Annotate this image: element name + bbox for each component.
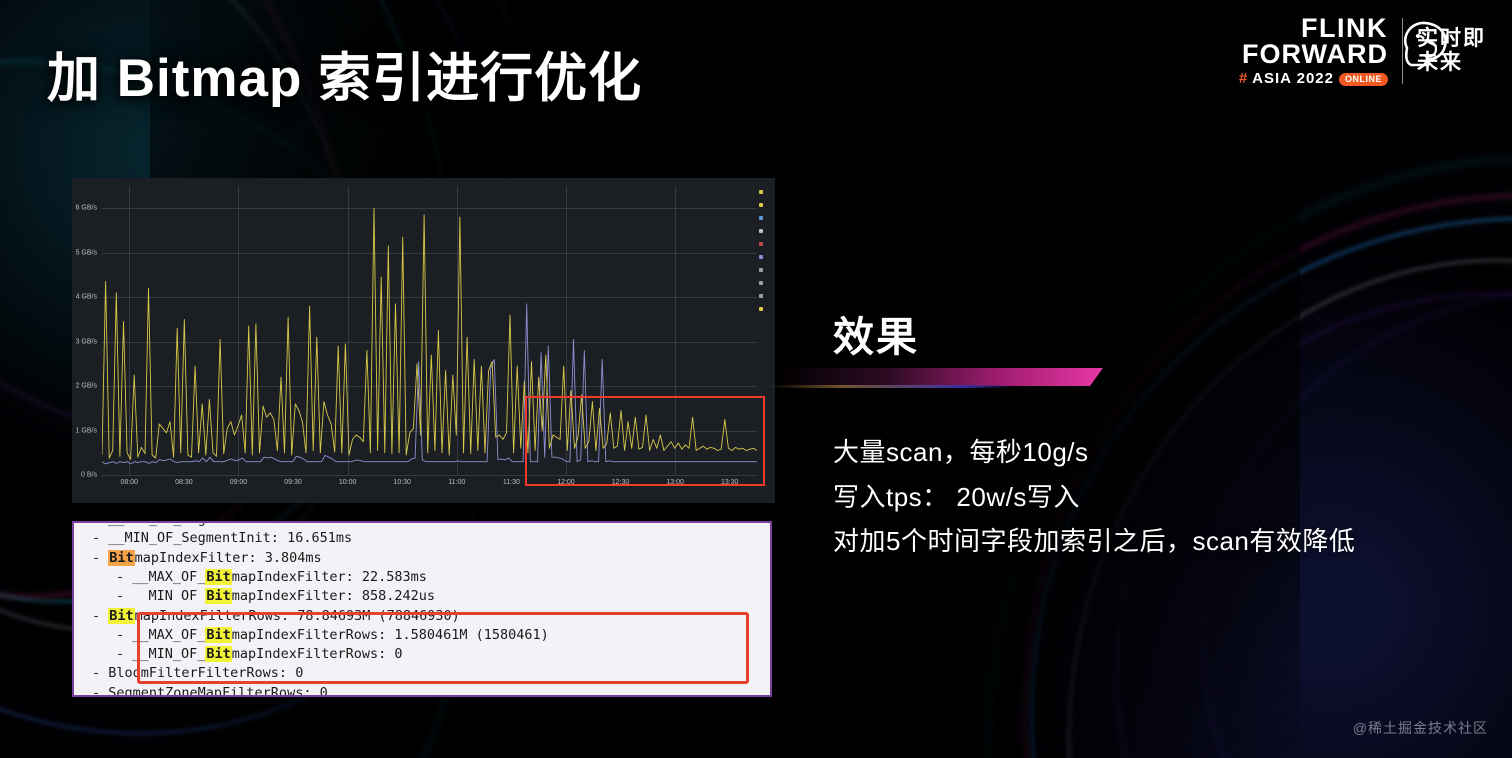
squirrel-icon bbox=[1391, 18, 1453, 73]
chart-x-tick-label: 13:00 bbox=[666, 479, 684, 486]
logo-event-text: ASIA 2022 bbox=[1252, 72, 1334, 86]
chart-gridline-h bbox=[102, 208, 757, 209]
log-line-suffix: mapIndexFilter: 858.242us bbox=[232, 588, 435, 604]
chart-y-tick-label: 3 GB/s bbox=[76, 338, 97, 345]
chart-gridline-h bbox=[102, 475, 757, 476]
log-line-suffix: mapIndexFilterRows: 78.84693M (78846930) bbox=[135, 608, 460, 624]
chart-legend-dot bbox=[759, 294, 763, 298]
slide-canvas: 加 Bitmap 索引进行优化 FLINK FORWARD # ASIA 202… bbox=[0, 0, 1512, 758]
chart-gridline-h bbox=[102, 431, 757, 432]
chart-y-tick-label: 2 GB/s bbox=[76, 383, 97, 390]
effect-bullet: 写入tps： 20w/s写入 bbox=[833, 475, 1453, 520]
chart-gridline-v bbox=[348, 186, 349, 475]
chart-x-tick-label: 08:30 bbox=[175, 479, 193, 486]
chart-x-tick-label: 12:00 bbox=[557, 479, 575, 486]
hash-icon: # bbox=[1239, 72, 1247, 86]
effect-bullet: 大量scan，每秒10g/s bbox=[833, 430, 1453, 475]
logo-flink-text: FLINK bbox=[1301, 16, 1388, 42]
accent-bar-underline bbox=[768, 385, 1016, 388]
chart-y-tick-label: 5 GB/s bbox=[76, 249, 97, 256]
chart-gridline-v bbox=[457, 186, 458, 475]
log-line: - MIN OF BitmapIndexFilter: 858.242us bbox=[116, 590, 435, 604]
chart-legend bbox=[759, 190, 771, 320]
chart-legend-dot bbox=[759, 190, 763, 194]
throughput-chart-panel: 0 B/s1 GB/s2 GB/s3 GB/s4 GB/s5 GB/s6 GB/… bbox=[72, 178, 775, 503]
chart-legend-dot bbox=[759, 268, 763, 272]
chart-x-tick-label: 10:00 bbox=[339, 479, 357, 486]
log-line-prefix: - MIN OF bbox=[116, 588, 205, 604]
chart-legend-dot bbox=[759, 255, 763, 259]
effect-bullet: 对加5个时间字段加索引之后，scan有效降低 bbox=[833, 519, 1453, 564]
accent-bar-main bbox=[778, 368, 1103, 386]
log-line-suffix: mapIndexFilterRows: 0 bbox=[232, 646, 403, 662]
chart-gridline-v bbox=[566, 186, 567, 475]
log-line-prefix: - __MAX_OF_ bbox=[116, 627, 205, 643]
log-line-prefix: - bbox=[92, 550, 108, 566]
chart-x-tick-label: 09:00 bbox=[230, 479, 248, 486]
chart-legend-dot bbox=[759, 242, 763, 246]
chart-y-tick-label: 6 GB/s bbox=[76, 205, 97, 212]
logo-forward-text: FORWARD bbox=[1242, 42, 1388, 68]
chart-legend-dot bbox=[759, 229, 763, 233]
watermark: @稀土掘金技术社区 bbox=[1353, 718, 1488, 738]
log-highlight-token: Bit bbox=[205, 588, 231, 604]
log-highlight-token: Bit bbox=[205, 646, 231, 662]
logo-online-badge: ONLINE bbox=[1339, 73, 1388, 86]
chart-x-tick-label: 11:00 bbox=[448, 479, 465, 486]
log-line-suffix: mapIndexFilter: 3.804ms bbox=[135, 550, 322, 566]
chart-legend-dot bbox=[759, 203, 763, 207]
chart-gridline-v bbox=[129, 186, 130, 475]
chart-x-tick-label: 11:30 bbox=[503, 479, 520, 486]
log-line: - __MAX_OF_BitmapIndexFilterRows: 1.5804… bbox=[116, 629, 549, 643]
page-title: 加 Bitmap 索引进行优化 bbox=[47, 36, 642, 112]
chart-y-tick-label: 4 GB/s bbox=[76, 294, 97, 301]
log-line: - BitmapIndexFilterRows: 78.84693M (7884… bbox=[92, 610, 460, 624]
log-highlight-token: Bit bbox=[205, 627, 231, 643]
log-line: - __MIN_OF_BitmapIndexFilterRows: 0 bbox=[116, 648, 402, 662]
chart-x-tick-label: 10:30 bbox=[393, 479, 411, 486]
log-highlight-token: Bit bbox=[108, 608, 134, 624]
chart-x-tick-label: 08:00 bbox=[121, 479, 139, 486]
log-line: - __MAX_OF_SegmentInit: 32.481ms bbox=[92, 521, 352, 527]
effect-heading: 效果 bbox=[833, 303, 919, 363]
log-line-prefix: - __MAX_OF_ bbox=[116, 569, 205, 585]
log-line: - BloomFilterFilterRows: 0 bbox=[92, 667, 303, 681]
effect-bullet-list: 大量scan，每秒10g/s写入tps： 20w/s写入对加5个时间字段加索引之… bbox=[833, 430, 1453, 564]
log-line-suffix: mapIndexFilterRows: 1.580461M (1580461) bbox=[232, 627, 549, 643]
log-line: - SegmentZoneMapFilterRows: 0 bbox=[92, 687, 328, 697]
flink-forward-logo: FLINK FORWARD # ASIA 2022 ONLINE 实时即 未来 bbox=[1239, 16, 1486, 87]
log-line-prefix: - __MIN_OF_ bbox=[116, 646, 205, 662]
log-line-prefix: - bbox=[92, 608, 108, 624]
chart-gridline-h bbox=[102, 253, 757, 254]
chart-gridline-h bbox=[102, 386, 757, 387]
chart-x-tick-label: 09:30 bbox=[284, 479, 302, 486]
accent-bar bbox=[778, 368, 1103, 386]
log-highlight-token: Bit bbox=[108, 550, 134, 566]
log-line: - __MIN_OF_SegmentInit: 16.651ms bbox=[92, 532, 352, 546]
log-highlight-token: Bit bbox=[205, 569, 231, 585]
log-line: - BitmapIndexFilter: 3.804ms bbox=[92, 552, 322, 566]
chart-series-line bbox=[102, 208, 757, 459]
chart-x-tick-label: 12:30 bbox=[612, 479, 630, 486]
chart-y-tick-label: 0 B/s bbox=[81, 472, 97, 479]
chart-gridline-v bbox=[675, 186, 676, 475]
chart-x-tick-label: 13:30 bbox=[721, 479, 739, 486]
chart-series-svg bbox=[102, 186, 757, 475]
profile-log-panel: - __MAX_OF_SegmentInit: 32.481ms- __MIN_… bbox=[72, 521, 772, 697]
chart-gridline-v bbox=[238, 186, 239, 475]
log-line: - __MAX_OF_BitmapIndexFilter: 22.583ms bbox=[116, 571, 427, 585]
chart-legend-dot bbox=[759, 281, 763, 285]
chart-gridline-h bbox=[102, 342, 757, 343]
chart-legend-dot bbox=[759, 307, 763, 311]
chart-gridline-h bbox=[102, 297, 757, 298]
chart-y-tick-label: 1 GB/s bbox=[76, 427, 97, 434]
chart-plot-area: 0 B/s1 GB/s2 GB/s3 GB/s4 GB/s5 GB/s6 GB/… bbox=[102, 186, 757, 475]
chart-legend-dot bbox=[759, 216, 763, 220]
log-line-suffix: mapIndexFilter: 22.583ms bbox=[232, 569, 427, 585]
